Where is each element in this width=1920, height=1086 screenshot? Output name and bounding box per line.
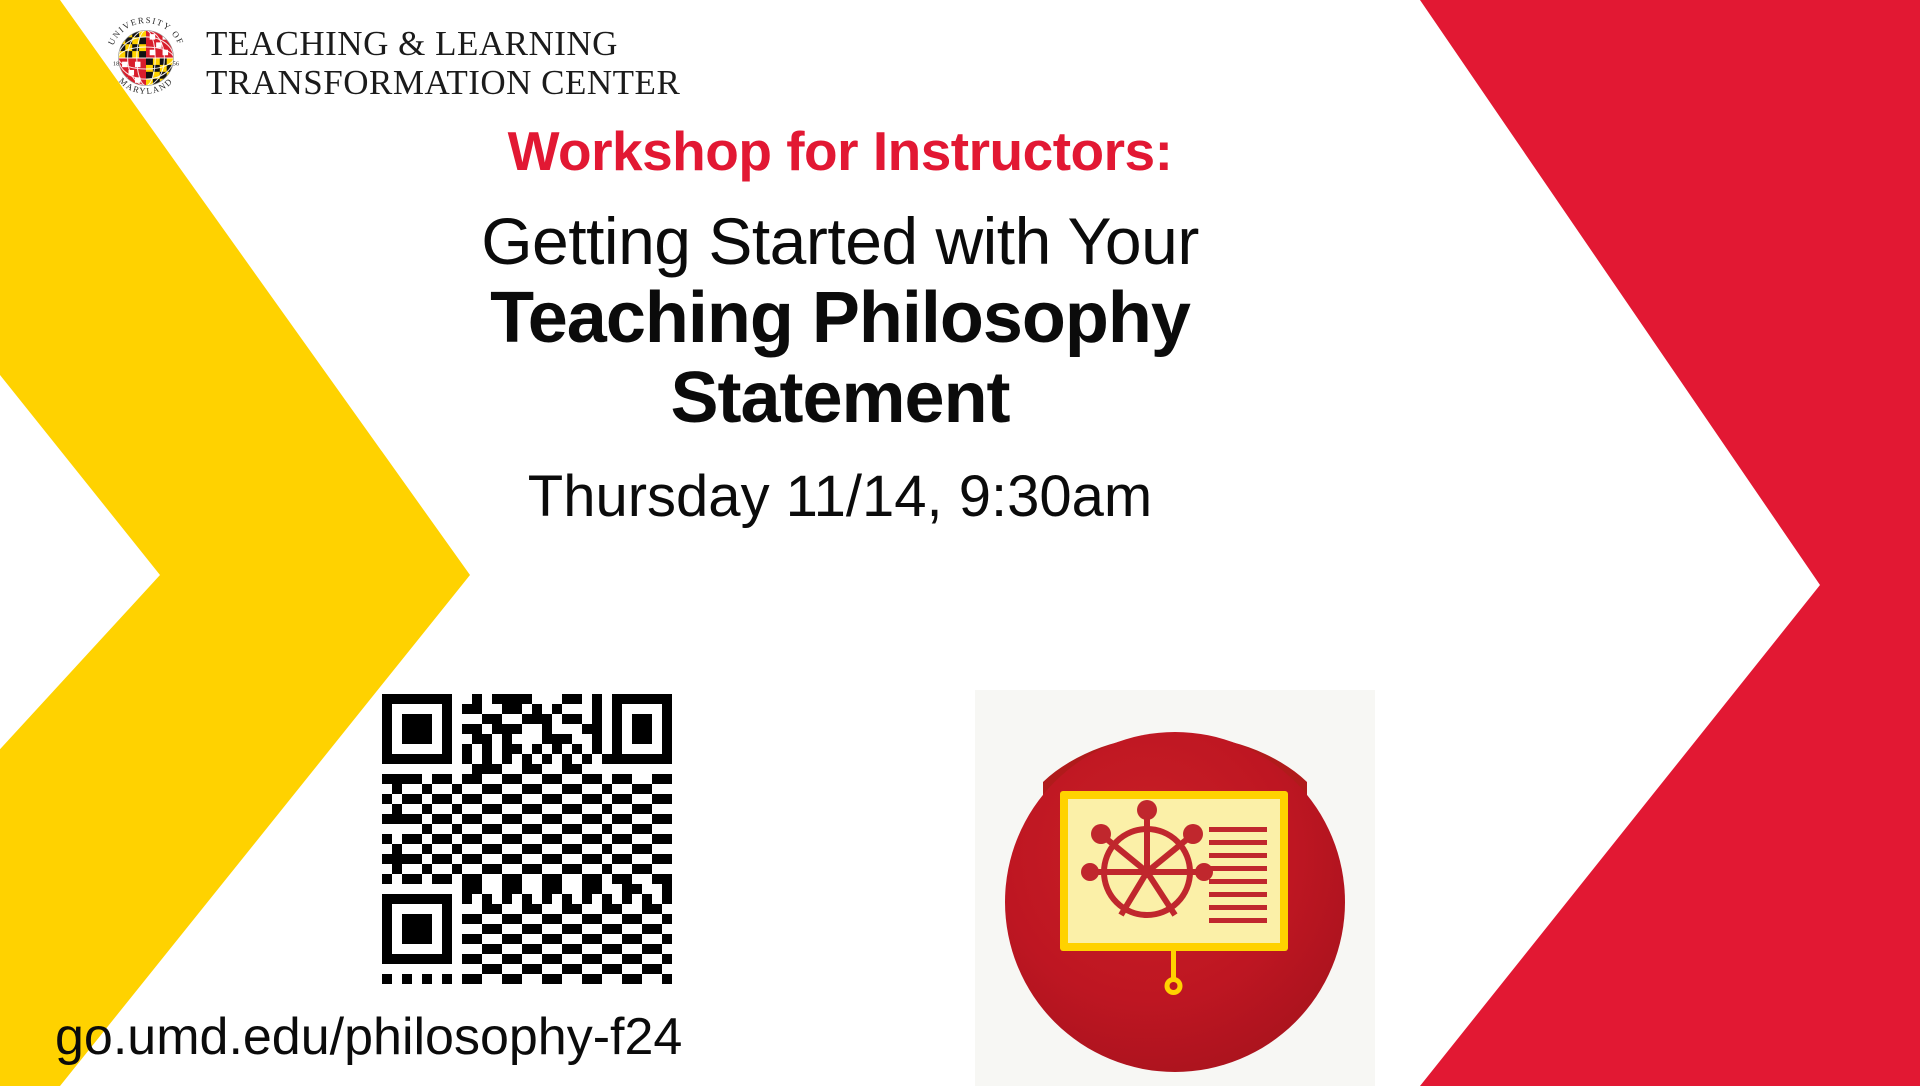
tltc-logo-lockup: UNIVERSITY OF MARYLAND 18 56 TEACHING & … bbox=[100, 12, 680, 104]
title-bold-line-2: Statement bbox=[430, 358, 1250, 438]
kicker-text: Workshop for Instructors: bbox=[430, 120, 1250, 182]
svg-text:18: 18 bbox=[113, 60, 119, 67]
title-light-line: Getting Started with Your bbox=[430, 204, 1250, 278]
red-chevron-decoration bbox=[1360, 0, 1920, 1086]
poster-canvas: UNIVERSITY OF MARYLAND 18 56 TEACHING & … bbox=[0, 0, 1920, 1086]
headings-block: Workshop for Instructors: Getting Starte… bbox=[430, 120, 1250, 530]
tltc-wordmark: TEACHING & LEARNING TRANSFORMATION CENTE… bbox=[206, 12, 680, 102]
wordmark-line-2: TRANSFORMATION CENTER bbox=[206, 63, 680, 102]
icon-presentation-screen bbox=[1060, 791, 1288, 951]
title-bold-line-1: Teaching Philosophy bbox=[430, 278, 1250, 358]
title-bold-block: Teaching Philosophy Statement bbox=[430, 278, 1250, 438]
umd-globe-seal-icon: UNIVERSITY OF MARYLAND 18 56 bbox=[100, 12, 192, 104]
svg-text:56: 56 bbox=[173, 60, 180, 67]
registration-url[interactable]: go.umd.edu/philosophy-f24 bbox=[55, 1008, 682, 1066]
qr-code[interactable] bbox=[382, 694, 672, 984]
presentation-board-icon bbox=[975, 690, 1375, 1086]
presentation-board-icon-tile bbox=[975, 690, 1375, 1086]
event-datetime: Thursday 11/14, 9:30am bbox=[430, 464, 1250, 530]
qr-code-matrix[interactable] bbox=[382, 694, 672, 984]
wordmark-line-1: TEACHING & LEARNING bbox=[206, 24, 680, 63]
